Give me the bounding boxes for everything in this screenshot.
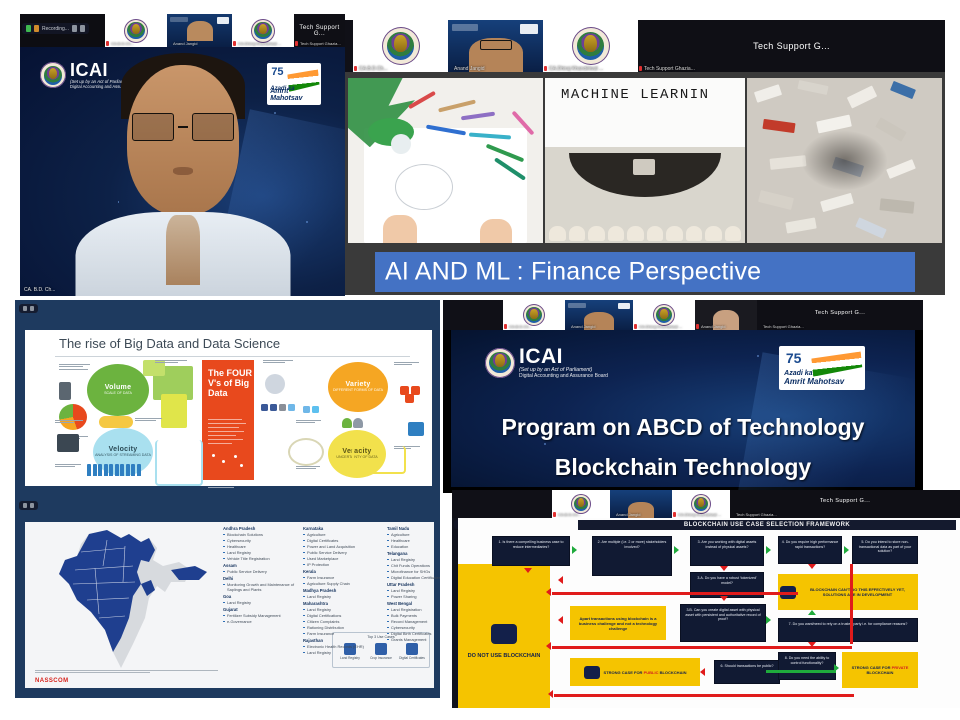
state-use-case: Microfinance for SHGs xyxy=(387,569,440,574)
state-use-case: Grants Management xyxy=(387,637,440,642)
participant-name: CA.B.D.Ch... xyxy=(354,66,388,72)
azadi-ka-amrit-mahotsav-logo: 75 Azadi ka Amrit Mahotsav xyxy=(267,63,321,105)
state-use-case: Record Management xyxy=(387,619,440,624)
colored-pens-drawing-photo xyxy=(348,78,543,243)
india-map-svg xyxy=(29,526,219,676)
recording-label: Recording... xyxy=(42,26,69,32)
speaker-figure xyxy=(98,47,268,296)
state-group: KarnatakaAgricultureDigital Certificates… xyxy=(303,526,383,567)
state-use-case: Monitoring Growth and Maintenance of Sap… xyxy=(223,582,297,592)
question-2: 2. Are multiple (i.e. 2 or more) stakeho… xyxy=(592,536,672,576)
participant-tile-2[interactable]: CA.Dhiraj Khandelwal ... xyxy=(633,300,695,330)
shared-screen-ai-ml[interactable]: CA.B.D.Ch... Anand Jangid CA.Dhiraj Khan… xyxy=(345,20,945,295)
state-name: West Bengal xyxy=(387,601,440,606)
shared-screen-india-map[interactable]: Top 3 Use Cases Land Registry Crop Insur… xyxy=(15,498,440,698)
india-map-slide-body: Top 3 Use Cases Land Registry Crop Insur… xyxy=(25,522,434,688)
icai-emblem-icon xyxy=(124,19,148,43)
paper-pile-photo xyxy=(747,78,942,243)
arrow-no-line xyxy=(552,592,798,595)
state-use-case: Electronic Health Records (EHR) xyxy=(303,644,383,649)
icai-subtitle-2: Digital Accounting and Assurance Board xyxy=(519,374,608,379)
icai-emblem-icon xyxy=(571,494,591,514)
outcome-label: Apart transactions using blockchain is a… xyxy=(572,616,664,631)
azadi-75-text: 75 xyxy=(271,66,283,78)
arrow-no xyxy=(720,596,728,601)
state-use-case: Vehicle Title Registration xyxy=(223,556,297,561)
state-name: Goa xyxy=(223,594,297,599)
participant-name: Anand Jangid xyxy=(449,66,485,72)
participant-tile-2[interactable]: CA.Dhiraj Khandelwal ... xyxy=(232,14,294,47)
typed-paper: MACHINE LEARNIN xyxy=(545,78,745,151)
state-group: GoaLand Registry xyxy=(223,594,297,605)
participant-strip-6[interactable]: CA.B.D.Ch... Anand Jangid CA.Dhiraj Khan… xyxy=(452,490,960,518)
participant-tile-label: Tech Support G... xyxy=(757,310,923,316)
participant-tile-0[interactable]: CA.B.D.Ch... xyxy=(503,300,565,330)
screenshare-controls[interactable] xyxy=(19,501,38,510)
blockchain-slide-body: BLOCKCHAIN USE CASE SELECTION FRAMEWORK … xyxy=(458,518,960,708)
bar-chart-icon xyxy=(87,462,141,476)
four-vs-box: The FOUR V's of Big Data xyxy=(202,360,254,480)
caption-text xyxy=(394,360,424,367)
state-use-case: Chit Funds Operations xyxy=(387,563,440,568)
framework-title: BLOCKCHAIN USE CASE SELECTION FRAMEWORK xyxy=(578,520,956,530)
icai-emblem-icon xyxy=(572,27,610,65)
outcome-label: STRONG CASE FOR PRIVATE BLOCKCHAIN xyxy=(844,665,916,675)
state-name: Telangana xyxy=(387,551,440,556)
arrow-yes xyxy=(700,668,705,676)
screenshare-controls[interactable] xyxy=(19,304,38,313)
icai-emblem-icon xyxy=(653,304,675,326)
share-icon[interactable] xyxy=(80,25,85,32)
zoom-toolbar[interactable]: Recording... xyxy=(22,23,89,34)
slide-title: The rise of Big Data and Data Science xyxy=(59,336,280,351)
question-8: 8. Do you need the ability to control fu… xyxy=(778,652,836,680)
shared-screen-blockchain-framework[interactable]: CA.B.D.Ch... Anand Jangid CA.Dhiraj Khan… xyxy=(452,490,960,708)
state-use-case: Land Registry xyxy=(387,588,440,593)
state-use-case: Land Registry xyxy=(223,600,297,605)
title-rule xyxy=(55,356,410,357)
state-use-case: Citizen Complaints xyxy=(303,619,383,624)
typed-text: MACHINE LEARNIN xyxy=(561,87,710,103)
azadi-line-2: Amrit Mahotsav xyxy=(270,88,321,102)
state-use-case: Cybersecurity xyxy=(223,538,297,543)
four-vs-body-text xyxy=(208,416,248,447)
arrow-no xyxy=(558,616,563,624)
state-name: Andhra Pradesh xyxy=(223,526,297,531)
v-sublabel: DIFFERENT FORMS OF DATA xyxy=(333,388,383,393)
nasscom-logo: NASSCOM xyxy=(35,678,68,684)
state-use-case: Public Service Delivery xyxy=(223,569,297,574)
state-name: Delhi xyxy=(223,576,297,581)
v-label: Variety xyxy=(345,381,370,388)
participant-name: CA.Dhiraj Khandelwal ... xyxy=(544,66,603,72)
arrow-yes-line xyxy=(766,670,836,673)
participant-tile-3[interactable]: Tech Support G... Tech Support Ghazia... xyxy=(757,300,923,330)
state-name: Uttar Pradesh xyxy=(387,582,440,587)
v-label: Volume xyxy=(105,384,132,391)
question-3: 3. Are you working with digital assets i… xyxy=(690,536,764,566)
participant-tile-3[interactable]: Tech Support G... Tech Support Ghazia... xyxy=(730,490,960,518)
state-use-case: Power Sharing xyxy=(387,594,440,599)
four-vs-label: The FOUR V's of Big Data xyxy=(208,368,254,398)
typewriter-photo: MACHINE LEARNIN xyxy=(545,78,745,243)
state-name: Gujarat xyxy=(223,607,297,612)
state-use-case: Fertilizer Subsidy Management xyxy=(223,613,297,618)
state-group: Madhya PradeshLand Registry xyxy=(303,588,383,599)
icai-emblem-icon xyxy=(251,19,275,43)
state-group: DelhiMonitoring Growth and Maintenance o… xyxy=(223,576,297,592)
participant-tile-0[interactable]: CA.B.D.Ch... xyxy=(105,14,167,47)
participant-tile-label: Tech Support G... xyxy=(638,41,945,51)
participant-tile-1[interactable]: Anand Jangid xyxy=(167,14,232,47)
icai-emblem-icon xyxy=(40,62,66,88)
participant-tile-1[interactable]: Anand Jangid xyxy=(565,300,633,330)
state-group: KeralaFarm InsuranceAgriculture Supply C… xyxy=(303,569,383,586)
state-group: GujaratFertilizer Subsidy Managemente-Go… xyxy=(223,607,297,624)
v-sublabel: ANALYSIS OF STREAMING DATA xyxy=(95,453,151,458)
arrow-no-line xyxy=(552,646,852,649)
arrow-no xyxy=(524,568,532,573)
state-group: TelanganaLand RegistryChit Funds Operati… xyxy=(387,551,440,580)
arrow-yes xyxy=(844,546,849,554)
question-7: 7. Do you want/need to rely on a trusted… xyxy=(778,618,918,642)
azadi-line-1: Azadi ka xyxy=(784,370,812,377)
state-use-case: Used Marketplace xyxy=(303,556,383,561)
outcome-public-blockchain: STRONG CASE FOR PUBLIC BLOCKCHAIN xyxy=(570,658,700,686)
participant-tile-anand[interactable]: Anand Jangid xyxy=(695,300,757,330)
arrow-yes xyxy=(674,546,679,554)
program-title-line-1: Program on ABCD of Technology xyxy=(451,414,915,441)
icai-emblem-icon xyxy=(691,494,711,514)
state-use-case: Rationing Distribution xyxy=(303,625,383,630)
arrow-yes xyxy=(808,564,816,569)
state-use-case: Education xyxy=(387,544,440,549)
arrow-yes xyxy=(572,546,577,554)
participant-tile-label: Tech Support G... xyxy=(294,25,345,37)
state-use-case: e-Governance xyxy=(223,619,297,624)
state-group: Andhra PradeshBlockchain SolutionsCybers… xyxy=(223,526,297,561)
caption-text xyxy=(135,416,167,423)
participant-tile-0[interactable]: CA.B.D.Ch... xyxy=(552,490,610,518)
slide-title-banner: AI AND ML : Finance Perspective xyxy=(375,252,915,292)
state-use-case: Power and Land Acquisition xyxy=(303,544,383,549)
question-5: 5. Do you intend to store non-transactio… xyxy=(852,536,918,564)
arrow-no xyxy=(720,566,728,571)
state-group: RajasthanElectronic Health Records (EHR)… xyxy=(303,638,383,655)
participant-strip-4[interactable]: CA.B.D.Ch... Anand Jangid CA.Dhiraj Khan… xyxy=(443,300,923,330)
question-4: 4. Do you require high performance rapid… xyxy=(778,536,842,564)
state-use-case: Healthcare xyxy=(387,538,440,543)
state-name: Karnataka xyxy=(303,526,383,531)
zoom-window-speaker[interactable]: CA.B.D.Ch... Anand Jangid CA.Dhiraj Khan… xyxy=(20,14,345,296)
participant-tile-3[interactable]: Tech Support G... Tech Support Ghazia... xyxy=(294,14,345,47)
state-group: West BengalLand RegistrationBulk Payment… xyxy=(387,601,440,642)
record-indicator-icon[interactable] xyxy=(34,25,39,32)
state-use-case: Cybersecurity xyxy=(387,625,440,630)
caption-text xyxy=(296,418,326,425)
state-use-case: Agriculture Supply Chain xyxy=(303,581,383,586)
caption-text xyxy=(59,362,93,371)
india-flag-icon xyxy=(811,351,863,376)
state-use-case: Agriculture xyxy=(387,532,440,537)
minimize-icon[interactable] xyxy=(23,306,27,311)
icai-watermark: ICAI (Set up by an Act of Parliament) Di… xyxy=(485,346,608,379)
participant-tile-2[interactable]: CA.Dhiraj Khandelwal ... xyxy=(672,490,730,518)
caption-text xyxy=(296,464,326,471)
participant-name: Tech Support Ghazia... xyxy=(639,66,695,72)
state-use-case: Digital Birth Certificates xyxy=(387,631,440,636)
big-data-slide-body: The rise of Big Data and Data Science Th… xyxy=(25,330,432,486)
state-use-case: Bulk Payments xyxy=(387,613,440,618)
state-use-case: Digital Certifications xyxy=(303,613,383,618)
state-use-case: Healthcare xyxy=(223,544,297,549)
azadi-ka-amrit-mahotsav-logo: 75 Azadi ka Amrit Mahotsav xyxy=(779,346,865,390)
state-group: AssamPublic Service Delivery xyxy=(223,563,297,574)
screenshot-canvas: CA.B.D.Ch... Anand Jangid CA.Dhiraj Khan… xyxy=(0,0,960,720)
state-name: Maharashtra xyxy=(303,601,383,606)
icai-emblem-icon xyxy=(485,348,515,378)
participant-tile-0[interactable]: CA.B.D.Ch... xyxy=(353,20,448,72)
state-column-2: Tamil NaduAgricultureHealthcareEducation… xyxy=(387,526,440,670)
question-3b: 3.B. Can you create digital asset with p… xyxy=(680,604,766,642)
state-use-case: Agriculture xyxy=(303,532,383,537)
state-use-case: Land Registration xyxy=(387,607,440,612)
state-use-case: Land Registry xyxy=(387,557,440,562)
arrow-no xyxy=(546,588,551,596)
participant-strip-2[interactable]: CA.B.D.Ch... Anand Jangid CA.Dhiraj Khan… xyxy=(345,20,945,72)
caption-text xyxy=(263,358,297,365)
state-use-case: Public Service Delivery xyxy=(303,550,383,555)
icai-emblem-icon xyxy=(382,27,420,65)
virtual-background: ICAI (Set up by an Act of Parliament) Di… xyxy=(20,47,345,296)
state-name: Tamil Nadu xyxy=(387,526,440,531)
arrow-no xyxy=(546,642,551,650)
slide-title: AI AND ML : Finance Perspective xyxy=(385,258,761,287)
state-use-case: Land Registry xyxy=(223,550,297,555)
caption-text xyxy=(155,358,191,365)
participant-tile-label: Tech Support G... xyxy=(730,498,960,504)
social-icons xyxy=(261,404,295,411)
participant-tile-1[interactable]: Anand Jangid xyxy=(610,490,672,518)
state-use-case: Land Registry xyxy=(303,594,383,599)
mic-icon[interactable] xyxy=(26,25,31,32)
state-use-case: Digital Certificates xyxy=(303,538,383,543)
arrow-no-line xyxy=(850,564,853,644)
arrow-yes xyxy=(766,546,771,554)
icai-abbr: ICAI xyxy=(519,346,608,367)
outcome-not-effective-yet: BLOCKCHAIN CAN'T DO THIS EFFECTIVELY YET… xyxy=(778,574,918,610)
azadi-75-text: 75 xyxy=(786,350,802,366)
arrow-no-line xyxy=(554,694,854,697)
arrow-no xyxy=(558,576,563,584)
minimize-icon[interactable] xyxy=(23,503,27,508)
state-name: Assam xyxy=(223,563,297,568)
arrow-yes xyxy=(766,616,771,624)
camera-icon[interactable] xyxy=(72,25,77,32)
shared-screen-icai-program[interactable]: CA.B.D.Ch... Anand Jangid CA.Dhiraj Khan… xyxy=(443,300,923,493)
source-note xyxy=(35,668,234,675)
state-column-1: KarnatakaAgricultureDigital Certificates… xyxy=(303,526,383,670)
fullscreen-icon[interactable] xyxy=(30,306,34,311)
speaker-name-label: CA. B.D. Ch... xyxy=(24,287,55,293)
state-name: Madhya Pradesh xyxy=(303,588,383,593)
state-group: Uttar PradeshLand RegistryPower Sharing xyxy=(387,582,440,599)
state-group: Tamil NaduAgricultureHealthcareEducation xyxy=(387,526,440,549)
outcome-label: BLOCKCHAIN CAN'T DO THIS EFFECTIVELY YET… xyxy=(799,587,916,597)
outcome-do-not-use-blockchain: DO NOT USE BLOCKCHAIN xyxy=(458,564,550,708)
v-label: Velocity xyxy=(109,446,138,453)
icai-slide-body: ICAI (Set up by an Act of Parliament) Di… xyxy=(451,330,915,487)
participant-tile-1[interactable]: Anand Jangid xyxy=(448,20,543,72)
azadi-line-2: Amrit Mahotsav xyxy=(784,377,844,386)
state-use-case: Farm Insurance xyxy=(303,631,383,636)
caption-text xyxy=(55,418,87,425)
v-sublabel: SCALE OF DATA xyxy=(104,391,132,396)
outcome-business-challenge: Apart transactions using blockchain is a… xyxy=(570,606,666,640)
fullscreen-icon[interactable] xyxy=(30,503,34,508)
arrow-no xyxy=(548,690,553,698)
question-1: 1. Is there a compelling business case t… xyxy=(492,536,570,566)
shared-screen-big-data[interactable]: The rise of Big Data and Data Science Th… xyxy=(15,300,440,500)
india-map xyxy=(29,526,219,662)
blockchain-icon xyxy=(584,666,600,679)
participant-tile-2[interactable]: CA.Dhiraj Khandelwal ... xyxy=(543,20,638,72)
blockchain-icon xyxy=(491,624,517,644)
program-title-line-2: Blockchain Technology xyxy=(451,454,915,481)
participant-tile-3[interactable]: Tech Support G... Tech Support Ghazia... xyxy=(638,20,945,72)
state-use-case: Blockchain Solutions xyxy=(223,532,297,537)
v-blob-volume: Volume SCALE OF DATA xyxy=(87,364,149,416)
icai-emblem-icon xyxy=(523,304,545,326)
state-name: Kerala xyxy=(303,569,383,574)
state-use-case: Digital Education Certificates xyxy=(387,575,440,580)
outcome-label: DO NOT USE BLOCKCHAIN xyxy=(458,653,550,660)
state-group: MaharashtraLand RegistryDigital Certific… xyxy=(303,601,383,636)
outcome-private-blockchain: STRONG CASE FOR PRIVATE BLOCKCHAIN xyxy=(842,652,918,688)
v-blob-variety: Variety DIFFERENT FORMS OF DATA xyxy=(328,362,388,412)
social-icons xyxy=(303,406,319,413)
state-name: Rajasthan xyxy=(303,638,383,643)
state-use-case: Land Registry xyxy=(303,607,383,612)
state-use-case: IP Protection xyxy=(303,562,383,567)
state-column-0: Andhra PradeshBlockchain SolutionsCybers… xyxy=(223,526,297,670)
state-use-case: Land Registry xyxy=(303,650,383,655)
caption-text xyxy=(55,462,87,469)
outcome-label: STRONG CASE FOR PUBLIC BLOCKCHAIN xyxy=(604,670,687,675)
state-use-case: Farm Insurance xyxy=(303,575,383,580)
arrow-yes xyxy=(808,610,816,615)
